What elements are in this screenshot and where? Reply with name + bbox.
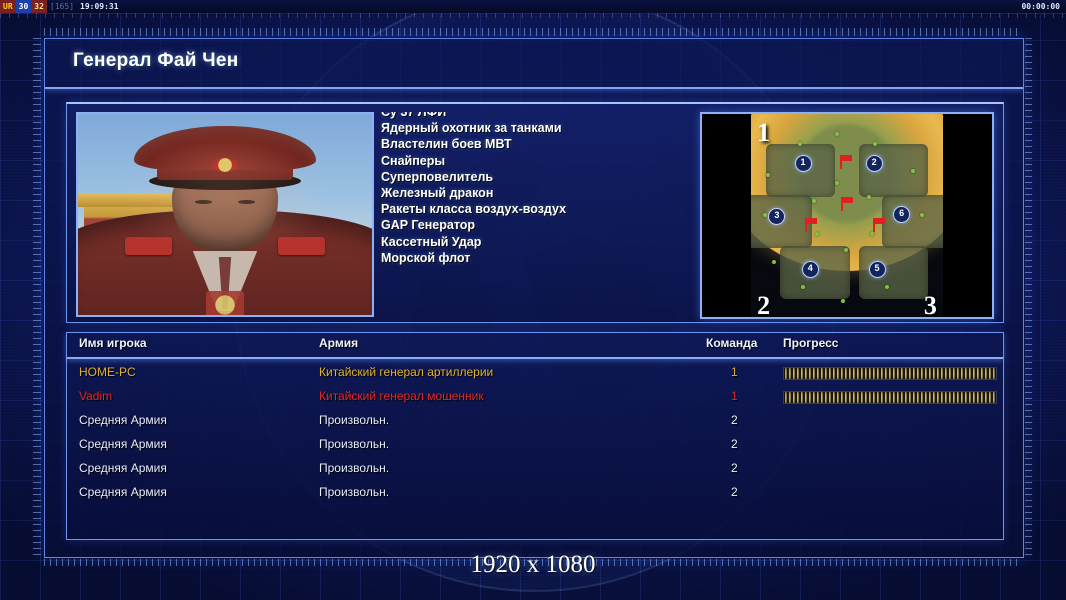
map-letterbox-right <box>943 114 992 317</box>
ability-item: Ракеты класса воздух-воздух <box>381 201 673 217</box>
general-ability-list: Су 37 ЛФИ Ядерный охотник за танками Вла… <box>381 112 673 313</box>
player-army[interactable]: Произвольн. <box>319 485 389 499</box>
column-header-progress: Прогресс <box>783 336 838 350</box>
map-preview[interactable]: 1 2 3 4 5 6 <box>700 112 994 319</box>
ability-item: Железный дракон <box>381 185 673 201</box>
player-team[interactable]: 1 <box>731 365 738 379</box>
mission-timer: 00:00:00 <box>1021 0 1060 13</box>
player-team[interactable]: 1 <box>731 389 738 403</box>
ability-item: Ядерный охотник за танками <box>381 120 673 136</box>
player-name[interactable]: Средняя Армия <box>79 461 167 475</box>
ruler-left <box>33 38 41 556</box>
table-row[interactable]: Средняя Армия Произвольн. 2 <box>67 457 1003 481</box>
map-sector <box>882 195 952 248</box>
column-header-team: Команда <box>706 336 757 350</box>
page-title: Генерал Фай Чен <box>73 50 239 72</box>
status-tag: UR <box>0 0 16 13</box>
main-dialog-frame: Генерал Фай Чен <box>44 38 1024 558</box>
ruler-right <box>1024 38 1032 556</box>
top-status-bar: UR3032[165]19:09:31 00:00:00 <box>0 0 1066 14</box>
game-screen: UR3032[165]19:09:31 00:00:00 Генерал Фай… <box>0 0 1066 600</box>
map-start-position[interactable]: 2 <box>866 155 883 172</box>
topbar-tick-ruler <box>0 13 1066 18</box>
ability-item: Морской флот <box>381 250 673 266</box>
ability-item: Суперповелитель <box>381 169 673 185</box>
ability-item: GAP Генератор <box>381 217 673 233</box>
player-team[interactable]: 2 <box>731 485 738 499</box>
player-table-header: Имя игрока Армия Команда Прогресс <box>67 333 1003 359</box>
general-portrait <box>76 112 374 317</box>
map-start-position[interactable]: 6 <box>893 206 910 223</box>
player-name[interactable]: Средняя Армия <box>79 413 167 427</box>
player-progress-bar <box>783 391 997 404</box>
general-info-panel: Су 37 ЛФИ Ядерный охотник за танками Вла… <box>66 102 1004 323</box>
resolution-label: 1920 x 1080 <box>0 551 1066 579</box>
column-header-army: Армия <box>319 336 358 350</box>
ability-item: Властелин боев МВТ <box>381 136 673 152</box>
table-row[interactable]: HOME-PC Китайский генерал артиллерии 1 <box>67 361 1003 385</box>
player-progress-bar <box>783 367 997 380</box>
player-army[interactable]: Китайский генерал мошенник <box>319 389 484 403</box>
status-clock: 19:09:31 <box>77 0 122 13</box>
table-row[interactable]: Средняя Армия Произвольн. 2 <box>67 433 1003 457</box>
ability-item: Су 37 ЛФИ <box>381 112 673 120</box>
player-name: Vadim <box>79 389 112 403</box>
table-row[interactable]: Средняя Армия Произвольн. 2 <box>67 409 1003 433</box>
player-army[interactable]: Китайский генерал артиллерии <box>319 365 493 379</box>
map-letterbox-left <box>702 114 751 317</box>
player-army[interactable]: Произвольн. <box>319 413 389 427</box>
player-army[interactable]: Произвольн. <box>319 461 389 475</box>
map-start-position[interactable]: 5 <box>869 261 886 278</box>
table-row[interactable]: Средняя Армия Произвольн. 2 <box>67 481 1003 505</box>
player-list-panel: Имя игрока Армия Команда Прогресс HOME-P… <box>66 332 1004 540</box>
map-corner-label: 3 <box>924 291 937 319</box>
table-row[interactable]: Vadim Китайский генерал мошенник 1 <box>67 385 1003 409</box>
ruler-top <box>44 28 1022 36</box>
portrait-glow <box>78 114 372 315</box>
map-sector <box>859 144 929 197</box>
status-value-3: [165] <box>47 0 77 13</box>
ability-item: Кассетный Удар <box>381 234 673 250</box>
ability-item: Снайперы <box>381 153 673 169</box>
player-name: HOME-PC <box>79 365 136 379</box>
player-team[interactable]: 2 <box>731 437 738 451</box>
column-header-name: Имя игрока <box>79 336 147 350</box>
player-army[interactable]: Произвольн. <box>319 437 389 451</box>
status-value-2: 32 <box>31 0 47 13</box>
player-team[interactable]: 2 <box>731 413 738 427</box>
map-corner-label: 1 <box>757 118 770 148</box>
player-name[interactable]: Средняя Армия <box>79 437 167 451</box>
status-value-1: 30 <box>16 0 32 13</box>
player-name[interactable]: Средняя Армия <box>79 485 167 499</box>
title-bar: Генерал Фай Чен <box>45 39 1023 89</box>
player-team[interactable]: 2 <box>731 461 738 475</box>
map-start-position[interactable]: 4 <box>802 261 819 278</box>
map-corner-label: 2 <box>757 291 770 319</box>
map-start-position[interactable]: 1 <box>795 155 812 172</box>
